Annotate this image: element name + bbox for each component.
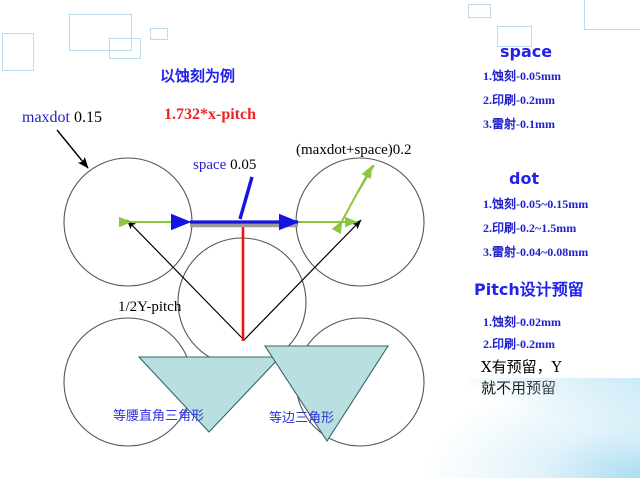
section-space-item-1: 1.蚀刻-0.05mm [483, 70, 561, 83]
section-heading-space: space [500, 43, 552, 61]
section-dot-item-3: 3.雷射-0.04~0.08mm [483, 246, 588, 259]
maxdot-label: maxdot 0.15 [22, 109, 102, 127]
section-space-item-2: 2.印刷-0.2mm [483, 94, 555, 107]
maxdot-space-leader [358, 165, 374, 192]
maxdot-leader-arrow [57, 130, 88, 168]
space-keyword: space [193, 157, 226, 173]
triangle-label-equilateral: 等边三角形 [269, 412, 334, 426]
section-pitch-item-2: 2.印刷-0.2mm [483, 338, 555, 351]
space-label: space 0.05 [193, 157, 256, 174]
section-heading-pitch: Pitch设计预留 [474, 281, 584, 299]
space-label-pointer [240, 177, 252, 219]
section-pitch-item-1: 1.蚀刻-0.02mm [483, 316, 561, 329]
section-heading-dot: dot [509, 170, 539, 188]
half-y-pitch-label: 1/2Y-pitch [118, 299, 181, 316]
section-space-item-3: 3.雷射-0.1mm [483, 118, 555, 131]
slide-canvas: 以蚀刻为例 maxdot 0.15 1.732*x-pitch space 0.… [0, 0, 640, 478]
triangle-equilateral [265, 346, 388, 441]
space-value: 0.05 [226, 157, 256, 173]
triangle-label-isosceles-right: 等腰直角三角形 [113, 410, 204, 424]
section-dot-item-1: 1.蚀刻-0.05~0.15mm [483, 198, 588, 211]
maxdot-value: 0.15 [70, 109, 102, 126]
diagram-title: 以蚀刻为例 [160, 68, 235, 85]
x-pitch-formula: 1.732*x-pitch [164, 106, 256, 124]
section-dot-item-2: 2.印刷-0.2~1.5mm [483, 222, 576, 235]
triangle-edge-left [127, 220, 244, 340]
maxdot-keyword: maxdot [22, 109, 70, 126]
reserve-note-line-2: 就不用预留 [481, 378, 556, 398]
reserve-note-line-1: X有预留，Y [481, 357, 562, 377]
maxdot-plus-space-label: (maxdot+space)0.2 [296, 142, 412, 159]
